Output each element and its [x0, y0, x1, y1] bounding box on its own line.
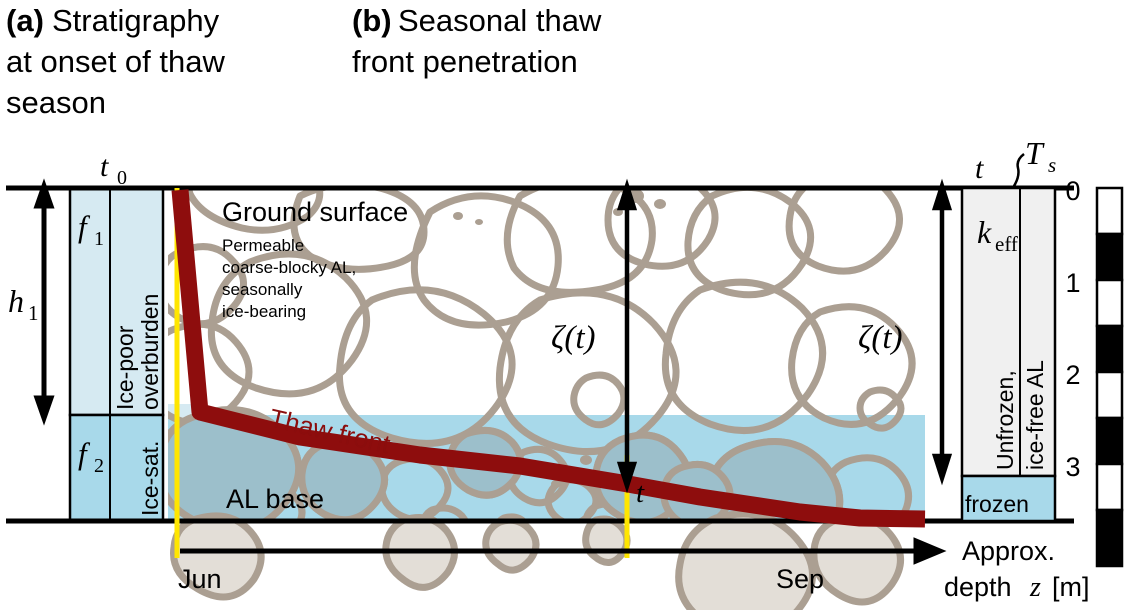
- h1-symbol: h: [8, 283, 24, 319]
- depth-tick-3: 3: [1065, 452, 1080, 482]
- panel-a-title-line3: season: [6, 85, 106, 120]
- depth-caption-line2-post: [m]: [1052, 572, 1090, 602]
- panel-b-title-line2: front penetration: [352, 44, 578, 79]
- depth-segment-4: [1097, 372, 1122, 418]
- al-desc-line2: coarse-blocky AL,: [222, 258, 356, 277]
- depth-scale-bar: [1097, 188, 1122, 566]
- al-desc-line1: Permeable: [222, 236, 304, 255]
- h1-subscript: 1: [28, 301, 39, 325]
- depth-segment-0: [1097, 188, 1122, 234]
- depth-tick-0: 0: [1065, 176, 1080, 206]
- depth-caption-line2-pre: depth: [944, 572, 1012, 602]
- time-axis-start-label: Jun: [178, 564, 222, 594]
- t0-symbol: t: [100, 150, 109, 183]
- panel-a-tag: (a): [6, 3, 44, 38]
- al-desc-line3: seasonally: [222, 280, 303, 299]
- k-symbol: k: [977, 214, 992, 250]
- right-label-frozen: frozen: [965, 491, 1029, 517]
- Ts-symbol: T: [1025, 135, 1045, 171]
- depth-segment-6: [1097, 464, 1122, 510]
- depth-tick-2: 2: [1065, 360, 1080, 390]
- depth-caption-symbol: z: [1029, 572, 1041, 603]
- f2-subscript: 2: [94, 455, 104, 477]
- panel-b-tag: (b): [352, 3, 392, 38]
- al-base-label: AL base: [226, 484, 324, 514]
- zeta-label-right: ζ(t): [858, 320, 903, 356]
- depth-segment-1: [1097, 234, 1122, 280]
- depth-segment-5: [1097, 418, 1122, 464]
- panel-a-title-line1: Stratigraphy: [52, 3, 220, 38]
- layer-label-ice-poor: Ice-poor: [112, 325, 138, 410]
- ground-surface-label: Ground surface: [222, 197, 408, 227]
- panel-b-title-line1: Seasonal thaw: [398, 3, 602, 38]
- k-subscript: eff: [995, 232, 1018, 256]
- depth-segment-7: [1097, 510, 1122, 566]
- depth-tick-1: 1: [1065, 268, 1080, 298]
- layer-label-ice-sat: Ice-sat.: [137, 441, 163, 516]
- t-marker-label: t: [636, 477, 645, 509]
- figure-root: (a) Stratigraphy at onset of thaw season…: [0, 0, 1124, 610]
- right-label-unfrozen: Unfrozen,: [992, 370, 1018, 470]
- depth-segment-2: [1097, 280, 1122, 326]
- time-axis-end-label: Sep: [776, 564, 824, 594]
- depth-segment-3: [1097, 326, 1122, 372]
- al-desc-line4: ice-bearing: [222, 302, 306, 321]
- layer-label-overburden: overburden: [137, 294, 163, 410]
- depth-caption-line1: Approx.: [962, 536, 1055, 566]
- Ts-subscript: s: [1048, 153, 1056, 177]
- zeta-label-middle: ζ(t): [551, 320, 596, 356]
- f1-subscript: 1: [94, 228, 104, 250]
- right-label-ice-free-al: ice-free AL: [1022, 360, 1048, 470]
- panel-a-title-line2: at onset of thaw: [6, 44, 225, 79]
- t-label-right: t: [975, 152, 984, 185]
